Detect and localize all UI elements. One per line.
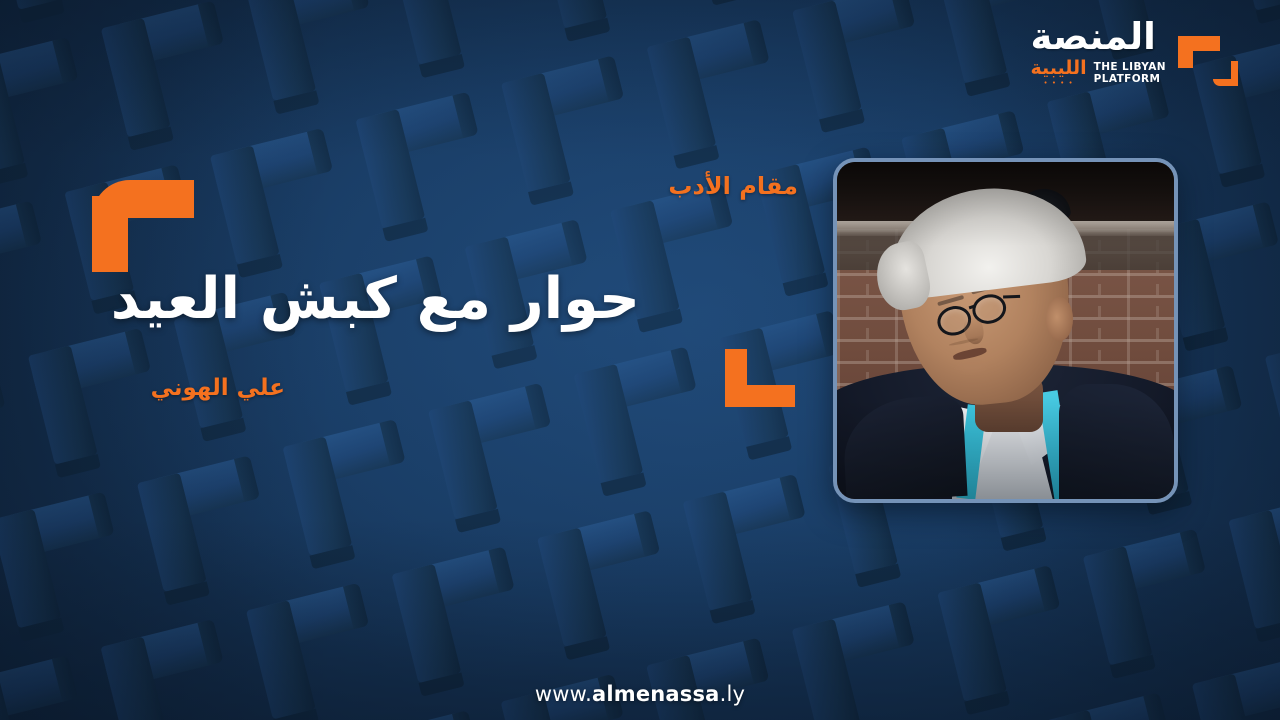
page-title: حوار مع كبش العيد	[0, 266, 640, 332]
brand-name-arabic-sub-wrap: الليبية • • • •	[1030, 59, 1086, 87]
almenassa-hook-mark-icon	[1174, 22, 1236, 84]
url-name: almenassa	[592, 682, 720, 706]
brand-subtitle-row: THE LIBYAN PLATFORM الليبية • • • •	[1030, 59, 1166, 87]
url-tld: .ly	[720, 682, 746, 706]
poster-canvas: المنصة THE LIBYAN PLATFORM الليبية • • •…	[0, 0, 1280, 720]
footer: www.almenassa.ly	[0, 682, 1280, 706]
portrait-photo	[837, 162, 1174, 499]
brand-logo[interactable]: المنصة THE LIBYAN PLATFORM الليبية • • •…	[1030, 18, 1236, 87]
hook-mark-small-icon	[1213, 61, 1238, 86]
brand-logo-text: المنصة THE LIBYAN PLATFORM الليبية • • •…	[1030, 18, 1166, 87]
decorative-hook-small-icon	[725, 349, 797, 407]
category-kicker: مقام الأدب	[0, 172, 798, 200]
brand-name-arabic-sub: الليبية	[1030, 59, 1086, 78]
website-url[interactable]: www.almenassa.ly	[535, 682, 745, 706]
brand-name-arabic: المنصة	[1030, 18, 1155, 55]
brand-dots-decor: • • • •	[1030, 80, 1086, 87]
url-prefix: www.	[535, 682, 592, 706]
brand-name-english: THE LIBYAN PLATFORM	[1094, 61, 1166, 86]
portrait-frame	[833, 158, 1178, 503]
author-byline: علي الهوني	[0, 375, 285, 401]
